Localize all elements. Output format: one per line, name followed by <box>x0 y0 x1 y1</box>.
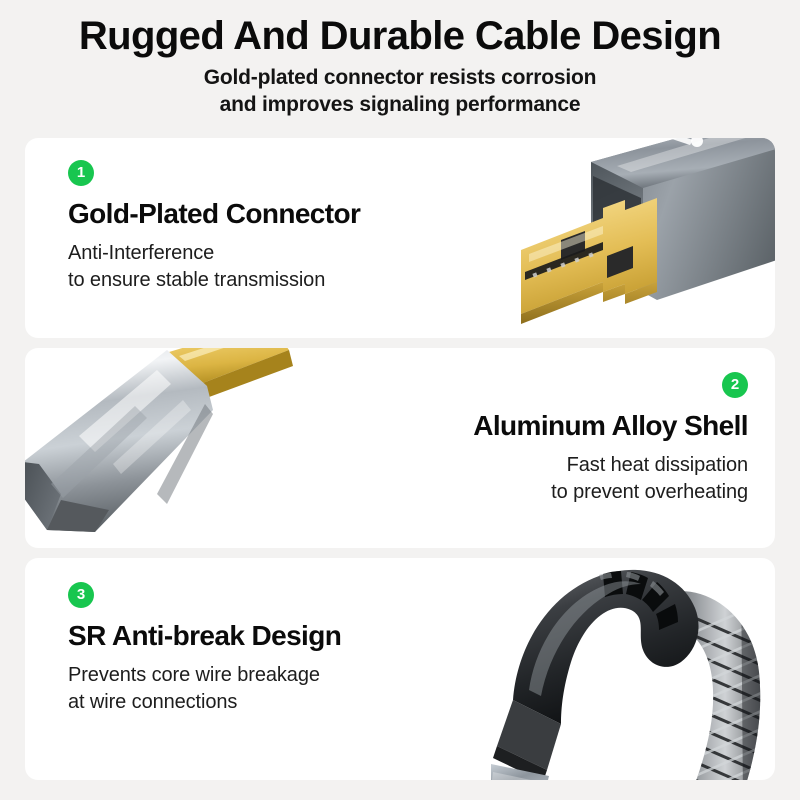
feature-card-gold-plated-connector: 1 Gold-Plated Connector Anti-Interferenc… <box>25 138 775 338</box>
page-header: Rugged And Durable Cable Design Gold-pla… <box>0 0 800 118</box>
card-1-description-line-2: to ensure stable transmission <box>68 267 360 294</box>
product-feature-page: Rugged And Durable Cable Design Gold-pla… <box>0 0 800 800</box>
feature-card-list: 1 Gold-Plated Connector Anti-Interferenc… <box>25 138 775 790</box>
card-2-number-badge: 2 <box>722 372 748 398</box>
card-3-description-line-2: at wire connections <box>68 689 341 716</box>
card-3-description-line-1: Prevents core wire breakage <box>68 662 341 689</box>
card-2-title: Aluminum Alloy Shell <box>473 409 748 443</box>
usb-c-connector-image <box>25 348 317 548</box>
feature-card-aluminum-alloy-shell: 2 Aluminum Alloy Shell Fast heat dissipa… <box>25 348 775 548</box>
hdmi-connector-image <box>507 138 775 338</box>
card-2-description-line-2: to prevent overheating <box>473 479 748 506</box>
page-title: Rugged And Durable Cable Design <box>0 12 800 60</box>
card-1-description-line-1: Anti-Interference <box>68 240 360 267</box>
card-1-number-badge: 1 <box>68 160 94 186</box>
braided-cable-strain-relief-image <box>491 558 775 780</box>
card-3-text-block: 3 SR Anti-break Design Prevents core wir… <box>68 582 341 716</box>
card-3-description: Prevents core wire breakage at wire conn… <box>68 662 341 716</box>
subtitle-line-1: Gold-plated connector resists corrosion <box>0 64 800 91</box>
feature-card-sr-anti-break-design: 3 SR Anti-break Design Prevents core wir… <box>25 558 775 780</box>
card-2-text-block: 2 Aluminum Alloy Shell Fast heat dissipa… <box>473 372 748 506</box>
page-subtitle: Gold-plated connector resists corrosion … <box>0 64 800 118</box>
card-1-description: Anti-Interference to ensure stable trans… <box>68 240 360 294</box>
subtitle-line-2: and improves signaling performance <box>0 91 800 118</box>
card-2-description: Fast heat dissipation to prevent overhea… <box>473 452 748 506</box>
card-2-description-line-1: Fast heat dissipation <box>473 452 748 479</box>
card-1-text-block: 1 Gold-Plated Connector Anti-Interferenc… <box>68 160 360 294</box>
card-3-number-badge: 3 <box>68 582 94 608</box>
card-1-title: Gold-Plated Connector <box>68 197 360 231</box>
card-3-title: SR Anti-break Design <box>68 619 341 653</box>
